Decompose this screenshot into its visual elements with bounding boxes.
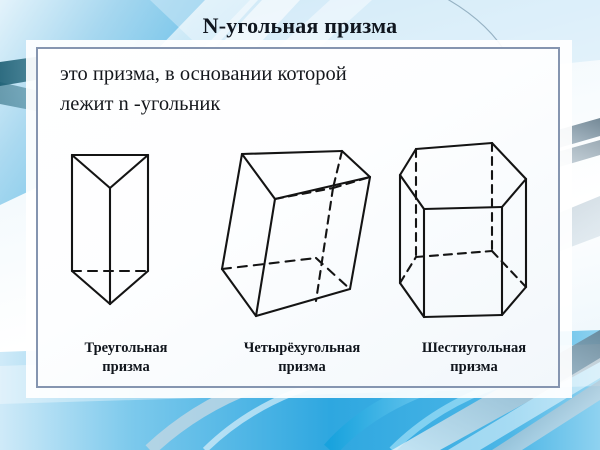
label-line-2: призма bbox=[394, 358, 554, 377]
content-panel: это призма, в основании которой лежит n … bbox=[36, 47, 560, 388]
label-line-1: Шестиугольная bbox=[394, 339, 554, 358]
label-line-1: Треугольная bbox=[42, 339, 210, 358]
prism-figures-row bbox=[38, 141, 558, 336]
label-line-2: призма bbox=[42, 358, 210, 377]
definition-text: это призма, в основании которой лежит n … bbox=[60, 59, 538, 119]
definition-line-2: лежит n -угольник bbox=[60, 89, 538, 119]
label-triangular-prism: Треугольная призма bbox=[42, 339, 210, 377]
definition-line-1: это призма, в основании которой bbox=[60, 59, 538, 89]
quadrangular-prism-icon bbox=[190, 141, 380, 331]
page-title: N-угольная призма bbox=[0, 13, 600, 39]
prism-labels-row: Треугольная призма Четырёхугольная призм… bbox=[42, 339, 554, 377]
label-line-2: призма bbox=[210, 358, 394, 377]
label-quadrangular-prism: Четырёхугольная призма bbox=[210, 339, 394, 377]
label-hexagonal-prism: Шестиугольная призма bbox=[394, 339, 554, 377]
hexagonal-prism-icon bbox=[388, 133, 553, 333]
triangular-prism-icon bbox=[52, 141, 182, 326]
slide-canvas: N-угольная призма это призма, в основани… bbox=[0, 0, 600, 450]
label-line-1: Четырёхугольная bbox=[210, 339, 394, 358]
